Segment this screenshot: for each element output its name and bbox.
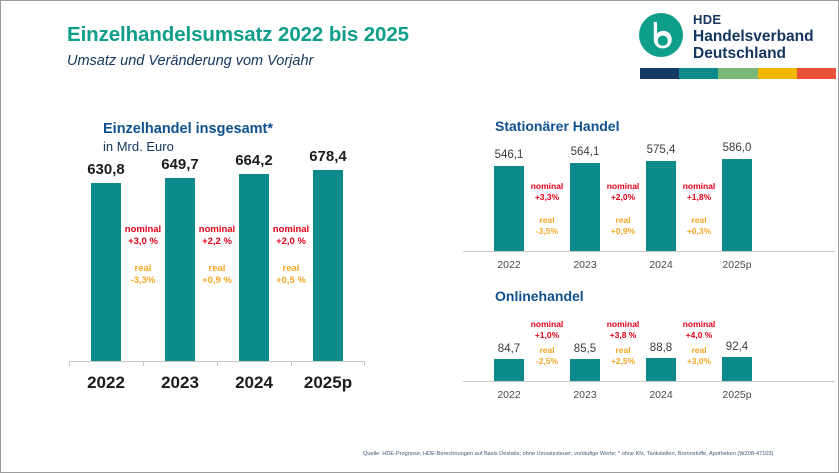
value-label-2024: 664,2 bbox=[214, 152, 294, 169]
chart-einzelhandel-insgesamt: Einzelhandel insgesamt*in Mrd. Euro630,8… bbox=[61, 111, 391, 401]
annotation-real-value: -3,5% bbox=[507, 226, 587, 237]
color-bar-segment-1 bbox=[640, 68, 679, 79]
chart-onlinehandel: Onlinehandel84,7202285,5202388,8202492,4… bbox=[463, 285, 835, 420]
logo-line-3: Deutschland bbox=[693, 45, 814, 62]
annotation-real-label: real bbox=[177, 263, 257, 275]
logo-abbr: HDE bbox=[693, 11, 814, 28]
annotation-real-label: real bbox=[583, 345, 663, 356]
annotation-real-label: real bbox=[251, 263, 331, 275]
annotation-real-label: real bbox=[659, 215, 739, 226]
annotation-nominal-label: nominal bbox=[103, 224, 183, 236]
value-label-2022: 546,1 bbox=[469, 149, 549, 161]
axis-tick bbox=[143, 361, 144, 366]
chart-title: Stationärer Handel bbox=[495, 118, 619, 134]
annotation-nominal-2023-2024: nominal+3,8 % bbox=[583, 319, 663, 341]
annotation-nominal-2024-2025p: nominal+1,8% bbox=[659, 181, 739, 203]
color-bar-segment-2 bbox=[679, 68, 718, 79]
x-axis-line bbox=[463, 251, 835, 252]
annotation-real-value: +2,5% bbox=[583, 356, 663, 367]
annotation-nominal-value: +4,0 % bbox=[659, 330, 739, 341]
annotation-real-2023-2024: real+0,9% bbox=[583, 215, 663, 237]
category-label-2025p: 2025p bbox=[283, 373, 373, 393]
annotation-real-value: +0,9% bbox=[583, 226, 663, 237]
page-subtitle: Umsatz und Veränderung vom Vorjahr bbox=[67, 53, 313, 69]
annotation-real-value: -3,3% bbox=[103, 275, 183, 287]
page-title: Einzelhandelsumsatz 2022 bis 2025 bbox=[67, 23, 409, 47]
annotation-nominal-label: nominal bbox=[659, 319, 739, 330]
category-label-2025p: 2025p bbox=[692, 259, 782, 271]
axis-tick bbox=[291, 361, 292, 366]
annotation-real-value: +3,0% bbox=[659, 356, 739, 367]
value-label-2023: 564,1 bbox=[545, 146, 625, 158]
annotation-nominal-2023-2024: nominal+2,2 % bbox=[177, 224, 257, 248]
bar-2023 bbox=[570, 163, 600, 251]
hde-logo-mark-icon bbox=[639, 13, 683, 57]
hde-logo-text: HDE Handelsverband Deutschland bbox=[693, 11, 814, 62]
annotation-nominal-value: +1,8% bbox=[659, 192, 739, 203]
value-label-2025p: 678,4 bbox=[288, 148, 368, 165]
annotation-nominal-label: nominal bbox=[659, 181, 739, 192]
infographic-canvas: Einzelhandelsumsatz 2022 bis 2025 Umsatz… bbox=[0, 0, 839, 473]
annotation-real-2024-2025p: real+0,3% bbox=[659, 215, 739, 237]
annotation-nominal-2023-2024: nominal+2,0% bbox=[583, 181, 663, 203]
annotation-nominal-value: +1,0% bbox=[507, 330, 587, 341]
axis-tick bbox=[217, 361, 218, 366]
color-bar-segment-4 bbox=[758, 68, 797, 79]
annotation-nominal-label: nominal bbox=[507, 181, 587, 192]
chart-stationaerer-handel: Stationärer Handel546,12022564,12023575,… bbox=[463, 113, 835, 278]
axis-end-cap-right bbox=[364, 361, 365, 366]
logo-line-2: Handelsverband bbox=[693, 28, 814, 45]
category-label-2025p: 2025p bbox=[692, 389, 782, 401]
annotation-nominal-label: nominal bbox=[507, 319, 587, 330]
annotation-real-2023-2024: real+2,5% bbox=[583, 345, 663, 367]
annotation-nominal-label: nominal bbox=[583, 319, 663, 330]
annotation-real-2023-2024: real+0,9 % bbox=[177, 263, 257, 287]
annotation-nominal-value: +2,2 % bbox=[177, 236, 257, 248]
annotation-nominal-label: nominal bbox=[583, 181, 663, 192]
annotation-nominal-value: +2,0 % bbox=[251, 236, 331, 248]
annotation-real-2022-2023: real-2,5% bbox=[507, 345, 587, 367]
annotation-real-2024-2025p: real+0,5 % bbox=[251, 263, 331, 287]
annotation-real-2022-2023: real-3,5% bbox=[507, 215, 587, 237]
annotation-real-value: +0,5 % bbox=[251, 275, 331, 287]
annotation-real-label: real bbox=[103, 263, 183, 275]
annotation-real-label: real bbox=[583, 215, 663, 226]
color-bar-segment-3 bbox=[718, 68, 757, 79]
annotation-nominal-value: +2,0% bbox=[583, 192, 663, 203]
annotation-nominal-2024-2025p: nominal+4,0 % bbox=[659, 319, 739, 341]
annotation-nominal-2024-2025p: nominal+2,0 % bbox=[251, 224, 331, 248]
annotation-nominal-2022-2023: nominal+1,0% bbox=[507, 319, 587, 341]
annotation-real-label: real bbox=[659, 345, 739, 356]
source-footnote: Quelle: HDE-Prognose; HDE-Berechnungen a… bbox=[363, 451, 833, 457]
annotation-nominal-2022-2023: nominal+3,3% bbox=[507, 181, 587, 203]
value-label-2025p: 586,0 bbox=[697, 142, 777, 154]
chart-title: Einzelhandel insgesamt* bbox=[103, 121, 273, 137]
annotation-real-2024-2025p: real+3,0% bbox=[659, 345, 739, 367]
value-label-2023: 649,7 bbox=[140, 156, 220, 173]
value-label-2024: 575,4 bbox=[621, 144, 701, 156]
axis-end-cap-left bbox=[69, 361, 70, 366]
brand-color-bar bbox=[640, 68, 836, 79]
x-axis-line bbox=[463, 381, 835, 382]
color-bar-segment-5 bbox=[797, 68, 836, 79]
annotation-nominal-2022-2023: nominal+3,0 % bbox=[103, 224, 183, 248]
value-label-2022: 630,8 bbox=[66, 161, 146, 178]
bar-2024 bbox=[646, 161, 676, 251]
bar-2025p bbox=[722, 159, 752, 251]
annotation-real-value: -2,5% bbox=[507, 356, 587, 367]
annotation-real-value: +0,9 % bbox=[177, 275, 257, 287]
annotation-real-value: +0,3% bbox=[659, 226, 739, 237]
annotation-real-label: real bbox=[507, 345, 587, 356]
bar-2022 bbox=[494, 166, 524, 251]
annotation-nominal-value: +3,0 % bbox=[103, 236, 183, 248]
annotation-real-label: real bbox=[507, 215, 587, 226]
annotation-real-2022-2023: real-3,3% bbox=[103, 263, 183, 287]
annotation-nominal-label: nominal bbox=[177, 224, 257, 236]
annotation-nominal-label: nominal bbox=[251, 224, 331, 236]
chart-title: Onlinehandel bbox=[495, 288, 584, 304]
annotation-nominal-value: +3,3% bbox=[507, 192, 587, 203]
chart-subtitle: in Mrd. Euro bbox=[103, 139, 174, 154]
annotation-nominal-value: +3,8 % bbox=[583, 330, 663, 341]
